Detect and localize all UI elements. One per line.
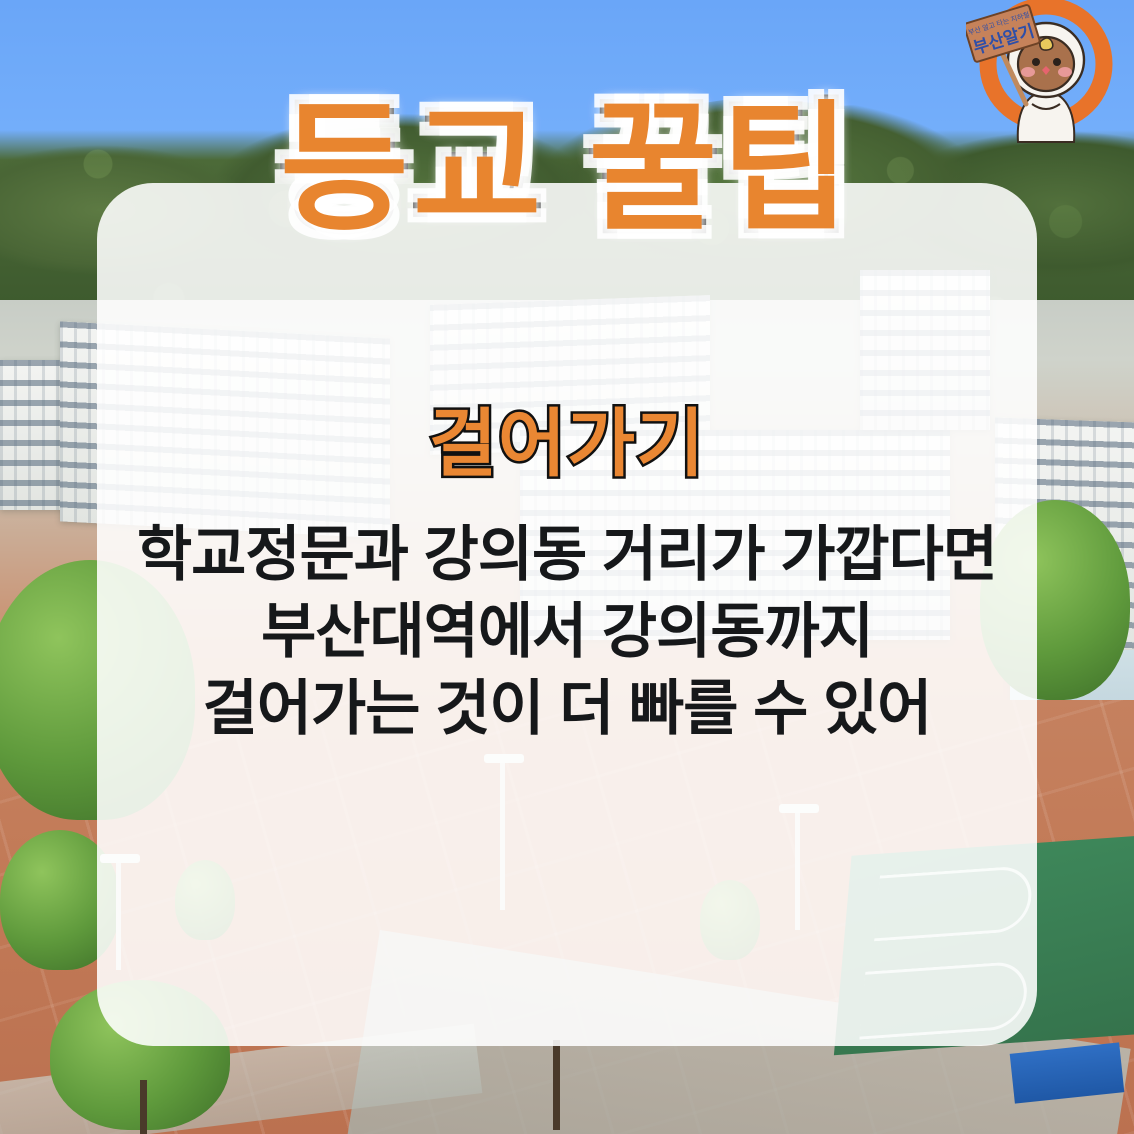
body-text-container: 학교정문과 강의동 거리가 가깝다면 부산대역에서 강의동까지 걸어가는 것이 …	[0, 516, 1134, 747]
mascot-eye-right	[1053, 58, 1061, 66]
brand-logo-icon: 부산 알고 타는 지하철 부산알기	[966, 0, 1126, 152]
social-card: 등교 꿀팁 걸어가기 학교정문과 강의동 거리가 가깝다면 부산대역에서 강의동…	[0, 0, 1134, 1134]
title-container: 등교 꿀팁	[0, 93, 1134, 244]
body-line: 부산대역에서 강의동까지	[0, 593, 1134, 670]
body-line: 학교정문과 강의동 거리가 가깝다면	[0, 516, 1134, 593]
mascot-eye-left	[1032, 58, 1040, 66]
page-title: 등교 꿀팁	[280, 93, 854, 244]
brand-logo[interactable]: 부산 알고 타는 지하철 부산알기	[966, 0, 1126, 152]
subtitle-container: 걸어가기	[0, 384, 1134, 491]
tree-trunk-left	[140, 1080, 147, 1134]
card-subtitle: 걸어가기	[429, 384, 705, 491]
mascot-forehead-swirl	[1040, 38, 1053, 50]
body-line: 걸어가는 것이 더 빠를 수 있어	[0, 670, 1134, 747]
mascot-cheek-left	[1021, 67, 1035, 77]
tree-trunk-center	[553, 1040, 560, 1130]
mascot-cheek-right	[1058, 67, 1072, 77]
